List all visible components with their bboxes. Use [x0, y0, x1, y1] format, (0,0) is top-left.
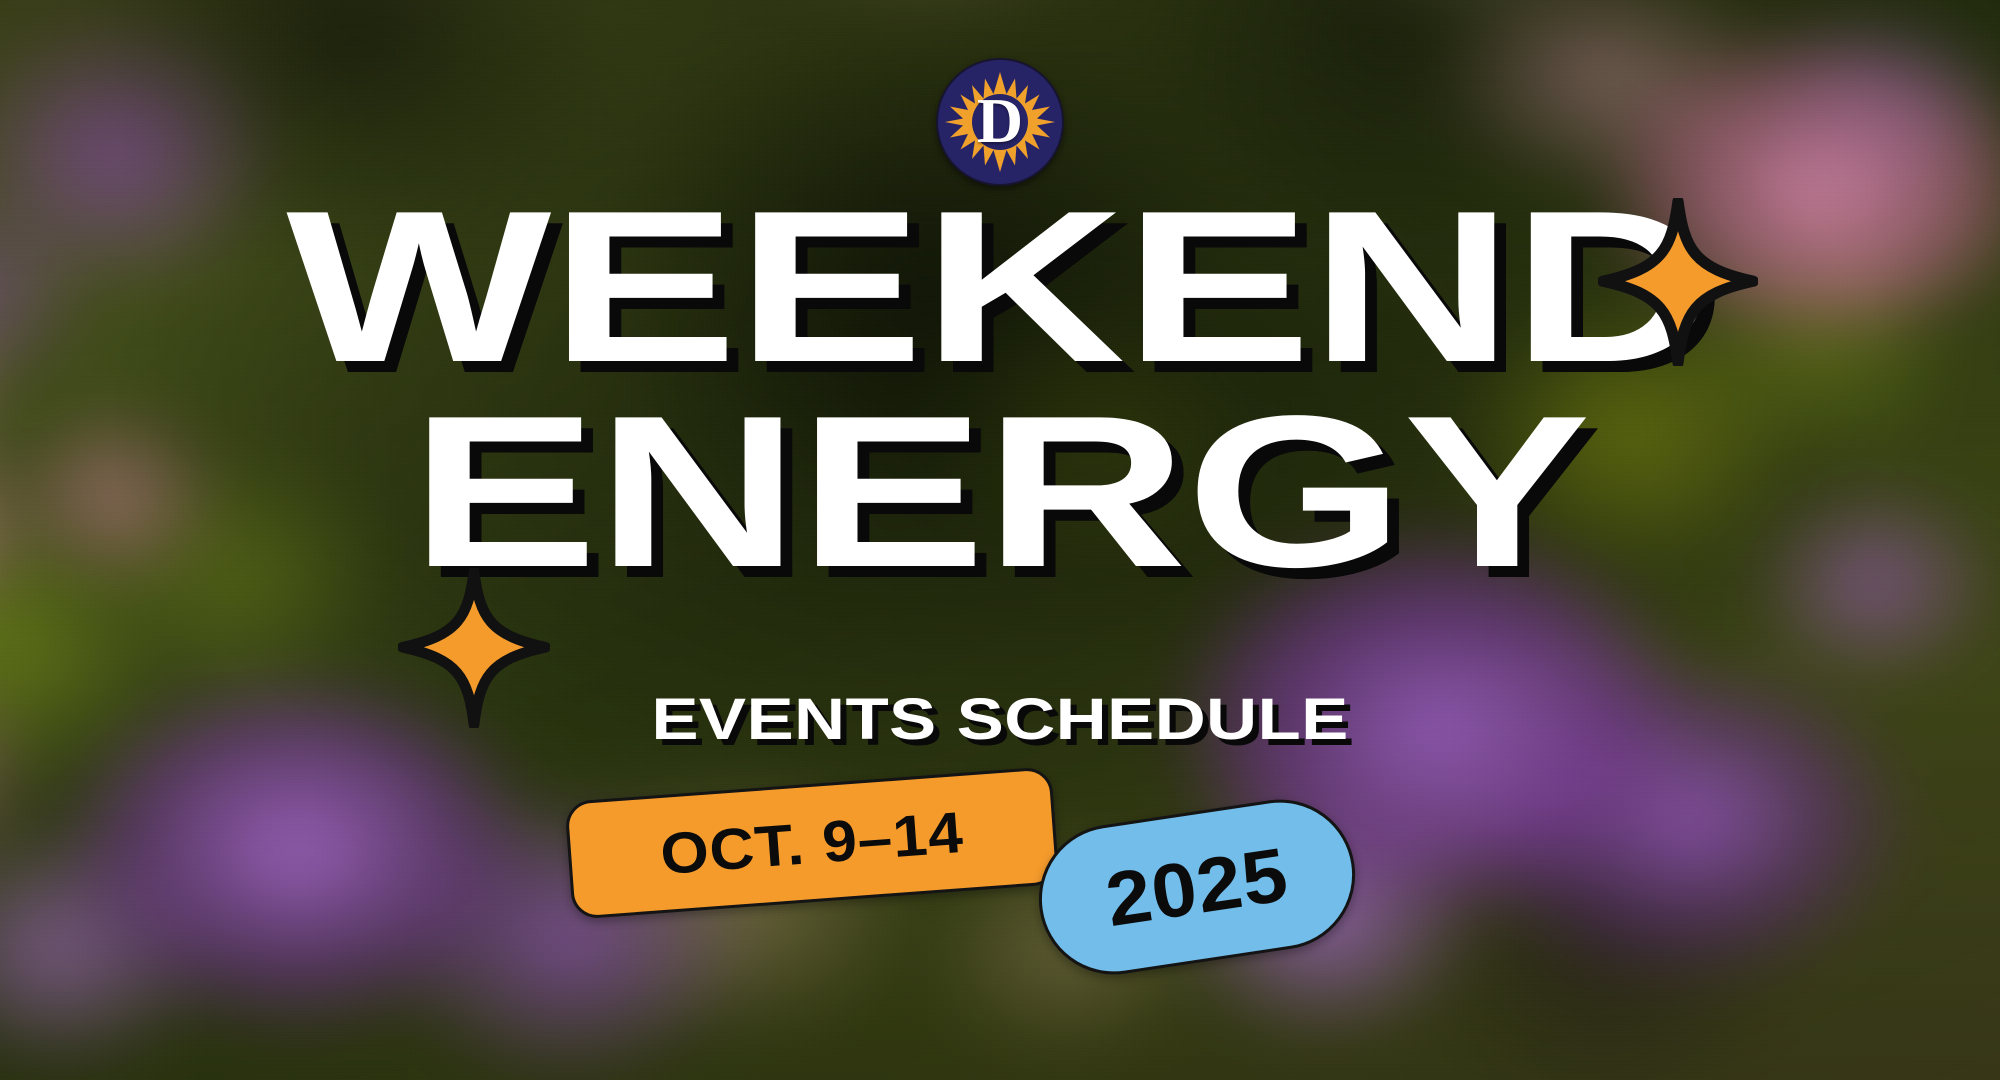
poster-content: D WEEKEND ENERGY EVENTS SCHEDULE OCT. 9–…	[0, 0, 2000, 1080]
sparkle-icon	[398, 568, 550, 728]
sparkle-icon	[1598, 198, 1758, 366]
badge-event-year[interactable]: 2025	[1029, 789, 1366, 984]
badge-event-dates-label: OCT. 9–14	[658, 798, 965, 887]
headline-line-2: ENERGY	[0, 401, 2000, 582]
subtitle: EVENTS SCHEDULE	[0, 686, 2000, 753]
date-badges: OCT. 9–14 2025	[0, 772, 2000, 992]
badge-event-dates[interactable]: OCT. 9–14	[564, 766, 1059, 919]
event-poster: D WEEKEND ENERGY EVENTS SCHEDULE OCT. 9–…	[0, 0, 2000, 1080]
badge-event-year-label: 2025	[1100, 830, 1293, 943]
